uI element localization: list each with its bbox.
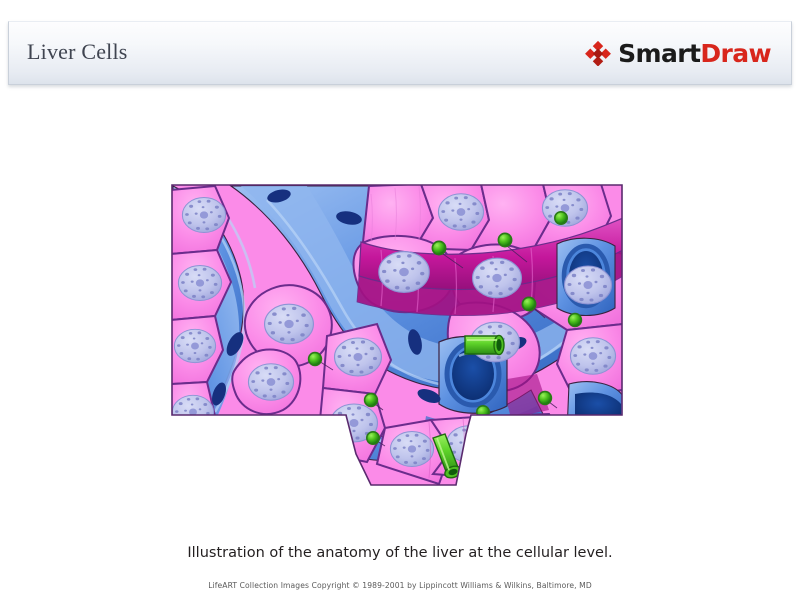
nucleus [248,364,293,400]
bile-canaliculus-tube [465,335,504,354]
hepatocyte [171,448,215,486]
illustration-body [171,184,623,486]
smartdraw-diamond-logo-icon [585,40,611,66]
bile-canaliculus-dot [367,432,379,444]
nucleus [182,198,225,233]
nucleus [265,304,314,344]
nucleus [390,432,433,467]
nucleus [292,454,335,486]
page-title: Liver Cells [27,39,128,67]
bile-canaliculus-dot [498,233,511,246]
nucleus [174,329,215,362]
nucleus [178,266,221,301]
bile-canaliculus-dot [522,297,535,310]
hepatocyte [485,414,563,478]
nucleus [335,338,382,376]
bile-canaliculus-dot [539,392,552,405]
bile-canaliculus-dot [432,241,445,254]
nucleus [173,457,212,486]
bile-canaliculus-dot [569,314,582,327]
header-bar: Liver Cells SmartDraw [8,21,792,85]
bile-canaliculus-dot [477,406,489,418]
liver-cells-illustration [171,184,623,486]
brand-word-draw: Draw [700,39,771,68]
hepatocyte [281,438,347,486]
caption-text: Illustration of the anatomy of the liver… [0,545,800,561]
copyright-text: LifeART Collection Images Copyright © 19… [0,581,800,590]
nucleus [242,440,285,475]
smartdraw-logo[interactable]: SmartDraw [585,40,773,66]
nucleus [506,424,551,460]
nucleus [172,395,213,428]
bile-canaliculus-dot [309,353,322,366]
hepatocyte [229,422,297,486]
brand-word-smart: Smart [618,39,700,68]
smartdraw-wordmark: SmartDraw [618,41,771,66]
bile-canaliculus-dot [555,212,567,224]
bile-canaliculus-dot [575,418,587,430]
nucleus [473,258,522,298]
nucleus [379,252,429,293]
nucleus [565,266,612,304]
nucleus [438,194,483,230]
bile-canaliculus-dot [365,394,378,407]
nucleus [570,338,615,374]
